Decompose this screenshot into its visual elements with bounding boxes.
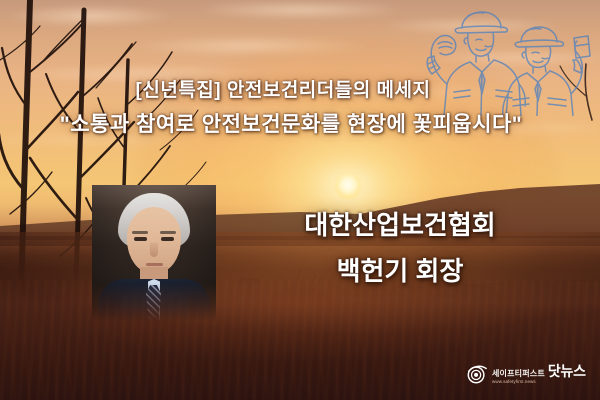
news-thumbnail-image: [신년특집] 안전보건리더들의 메세지 "소통과 참여로 안전보건문화를 현장에… [0,0,600,400]
portrait-photo [92,185,216,321]
sunset-sky-background [0,0,600,400]
portrait-vignette [92,185,216,321]
